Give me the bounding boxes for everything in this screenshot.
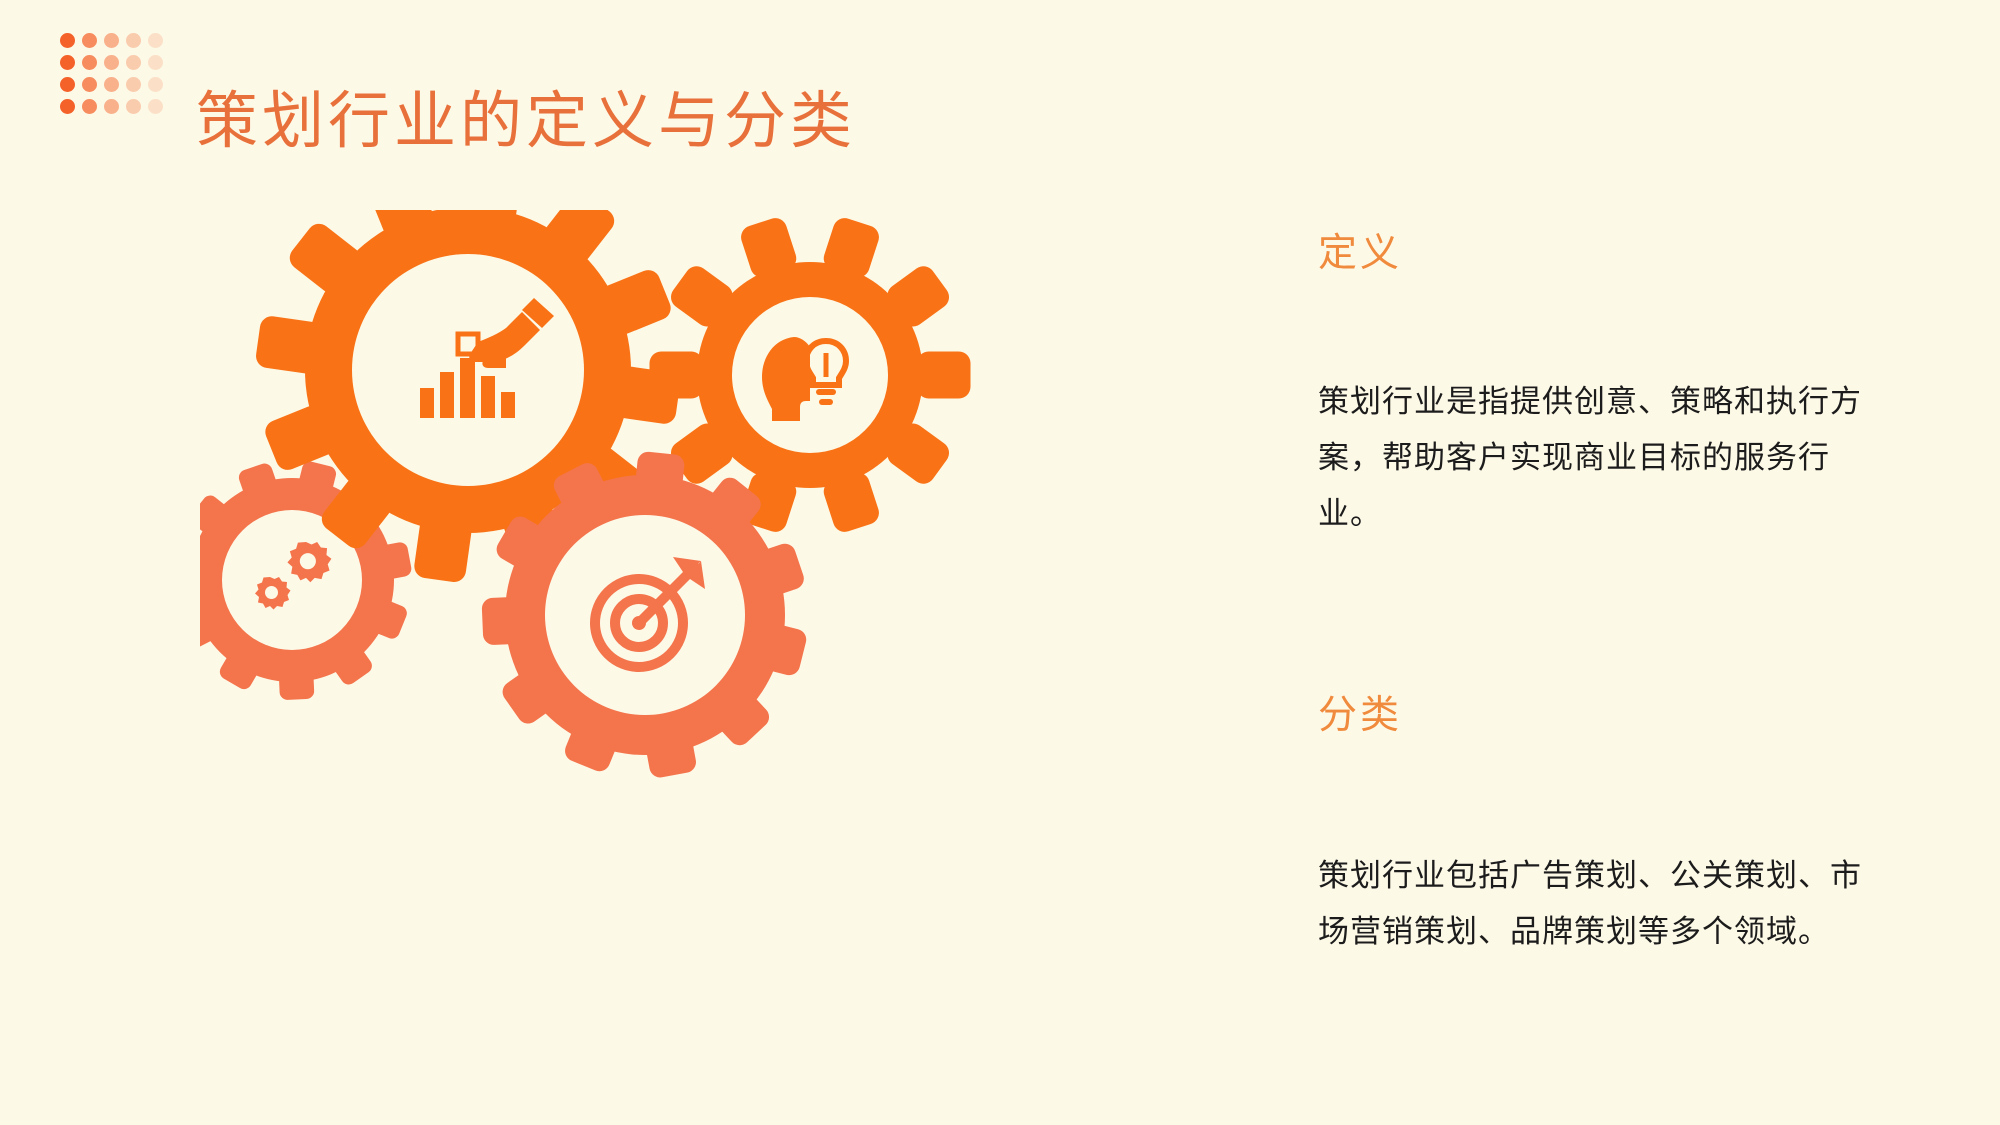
spacer — [1318, 740, 1878, 848]
grid-dot — [82, 99, 97, 114]
grid-dot — [60, 77, 75, 92]
section-heading-definition: 定义 — [1318, 230, 1878, 278]
dot-grid-decoration — [60, 33, 170, 121]
grid-dot — [148, 33, 163, 48]
grid-dot — [60, 55, 75, 70]
section-heading-classification: 分类 — [1318, 692, 1878, 740]
slide-canvas: 策划行业的定义与分类 — [0, 0, 2000, 1125]
grid-dot — [104, 33, 119, 48]
grid-dot — [126, 99, 141, 114]
grid-dot — [126, 55, 141, 70]
content-column: 定义 策划行业是指提供创意、策略和执行方案，帮助客户实现商业目标的服务行业。 分… — [1318, 230, 1878, 960]
page-title: 策划行业的定义与分类 — [196, 86, 856, 158]
grid-dot — [148, 99, 163, 114]
grid-dot — [104, 99, 119, 114]
grid-dot — [82, 55, 97, 70]
grid-dot — [82, 77, 97, 92]
section-body-definition: 策划行业是指提供创意、策略和执行方案，帮助客户实现商业目标的服务行业。 — [1318, 374, 1878, 542]
section-body-classification: 策划行业包括广告策划、公关策划、市场营销策划、品牌策划等多个领域。 — [1318, 848, 1878, 960]
grid-dot — [126, 33, 141, 48]
grid-dot — [148, 55, 163, 70]
grid-dot — [104, 77, 119, 92]
grid-dot — [82, 33, 97, 48]
slide-header: 策划行业的定义与分类 — [0, 0, 2000, 160]
grid-dot — [60, 99, 75, 114]
grid-dot — [60, 33, 75, 48]
grid-dot — [148, 77, 163, 92]
spacer — [1318, 278, 1878, 374]
spacer — [1318, 542, 1878, 692]
grid-dot — [104, 55, 119, 70]
grid-dot — [126, 77, 141, 92]
gears-illustration — [200, 210, 1000, 830]
